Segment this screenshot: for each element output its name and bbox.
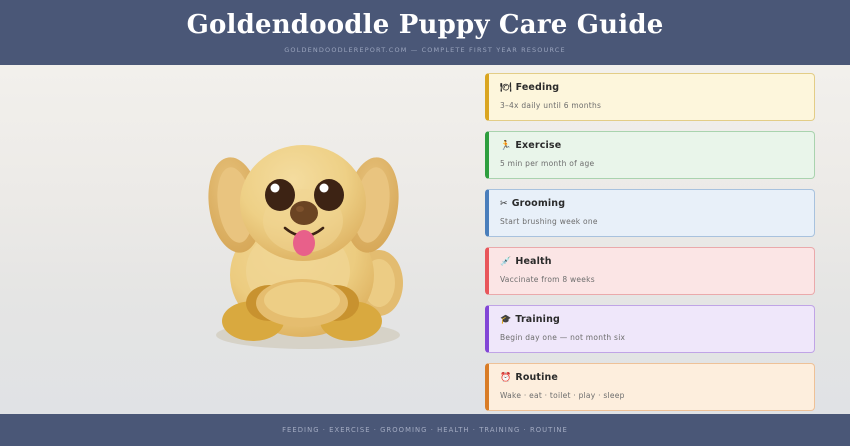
care-card-grooming[interactable]: ✂Grooming Start brushing week one [485, 189, 815, 237]
card-title: 💉Health [500, 256, 802, 268]
card-title-text: Routine [515, 372, 558, 383]
card-title: ⏰Routine [500, 372, 802, 384]
bowl-icon: 🍽 [500, 83, 512, 94]
puppy-illustration [190, 125, 420, 365]
puppy-eye-highlight-right [320, 184, 329, 193]
syringe-icon: 💉 [500, 257, 511, 268]
puppy-eye-left [265, 179, 295, 211]
card-body: Vaccinate from 8 weeks [500, 275, 802, 285]
care-card-health[interactable]: 💉Health Vaccinate from 8 weeks [485, 247, 815, 295]
card-body: Start brushing week one [500, 217, 802, 227]
card-title: 🏃Exercise [500, 140, 802, 152]
card-body: Wake · eat · toilet · play · sleep [500, 391, 802, 401]
card-title: 🎓Training [500, 314, 802, 326]
clock-icon: ⏰ [500, 373, 511, 384]
puppy-tongue [293, 230, 315, 256]
puppy-eye-right [314, 179, 344, 211]
footer-keyword-list: FEEDING · EXERCISE · GROOMING · HEALTH ·… [282, 426, 568, 434]
card-title: 🍽Feeding [500, 82, 802, 94]
page-footer: FEEDING · EXERCISE · GROOMING · HEALTH ·… [0, 414, 850, 446]
care-card-routine[interactable]: ⏰Routine Wake · eat · toilet · play · sl… [485, 363, 815, 411]
puppy-eye-highlight-left [271, 184, 280, 193]
care-card-list: 🍽Feeding 3–4x daily until 6 months 🏃Exer… [485, 73, 815, 414]
card-title-text: Grooming [512, 198, 565, 209]
card-title: ✂Grooming [500, 198, 802, 210]
care-card-training[interactable]: 🎓Training Begin day one — not month six [485, 305, 815, 353]
card-title-text: Exercise [515, 140, 561, 151]
page-subtitle: GOLDENDOODLEREPORT.COM — COMPLETE FIRST … [284, 46, 566, 54]
care-card-feeding[interactable]: 🍽Feeding 3–4x daily until 6 months [485, 73, 815, 121]
graduation-icon: 🎓 [500, 315, 511, 326]
page-header: Goldendoodle Puppy Care Guide GOLDENDOOD… [0, 0, 850, 65]
card-title-text: Feeding [516, 82, 560, 93]
card-title-text: Health [515, 256, 551, 267]
card-body: 3–4x daily until 6 months [500, 101, 802, 111]
content-stage: 🍽Feeding 3–4x daily until 6 months 🏃Exer… [0, 65, 850, 414]
page-title: Goldendoodle Puppy Care Guide [187, 11, 664, 40]
page-root: Goldendoodle Puppy Care Guide GOLDENDOOD… [0, 0, 850, 446]
card-body: 5 min per month of age [500, 159, 802, 169]
scissors-icon: ✂ [500, 199, 508, 210]
care-card-exercise[interactable]: 🏃Exercise 5 min per month of age [485, 131, 815, 179]
card-title-text: Training [515, 314, 560, 325]
run-icon: 🏃 [500, 141, 511, 152]
card-body: Begin day one — not month six [500, 333, 802, 343]
puppy-nose [290, 201, 318, 225]
